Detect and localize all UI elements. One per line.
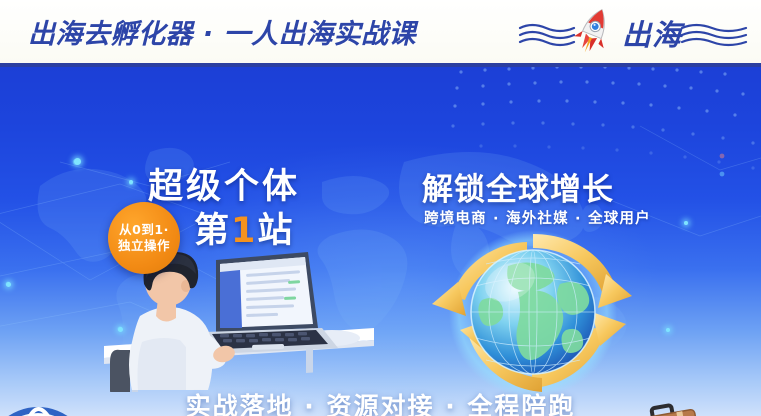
right-headline: 解锁全球增长	[422, 164, 614, 209]
sparkle-dot	[666, 328, 670, 332]
badge-from-zero-to-one: 从0到1· 独立操作	[108, 202, 180, 274]
badge-line-2: 独立操作	[118, 238, 170, 254]
page-header: 出海去孵化器 · 一人出海实战课	[0, 0, 761, 64]
sparkle-dot	[74, 158, 81, 165]
compass-illustration	[0, 398, 106, 416]
suitcase-illustration	[630, 402, 706, 416]
promo-banner-page: 出海去孵化器 · 一人出海实战课	[0, 0, 761, 416]
badge-line-1: 从0到1·	[119, 222, 169, 238]
sparkle-dot	[129, 180, 133, 184]
rocket-icon	[572, 6, 614, 58]
left-subheadline-number: 1	[231, 211, 257, 251]
hero-banner: 超级个体 第1站 从0到1· 独立操作 解锁全球增长 跨境电商 · 海外社媒 ·…	[0, 66, 761, 416]
brand-logo-text: 出海	[622, 12, 682, 54]
left-subheadline-prefix: 第	[194, 211, 231, 251]
page-title: 出海去孵化器 · 一人出海实战课	[28, 12, 416, 51]
left-subheadline: 第1站	[194, 202, 294, 253]
sparkle-dot	[6, 282, 11, 287]
right-subheadline: 跨境电商 · 海外社媒 · 全球用户	[424, 207, 651, 228]
wave-lines-icon-right	[680, 22, 754, 48]
sparkle-dot	[684, 221, 688, 225]
globe-with-arrows-illustration	[420, 226, 650, 401]
left-subheadline-suffix: 站	[257, 211, 294, 251]
wave-lines-icon	[518, 22, 578, 48]
brand-logo[interactable]: 出海	[518, 4, 750, 60]
header-divider	[0, 63, 761, 67]
